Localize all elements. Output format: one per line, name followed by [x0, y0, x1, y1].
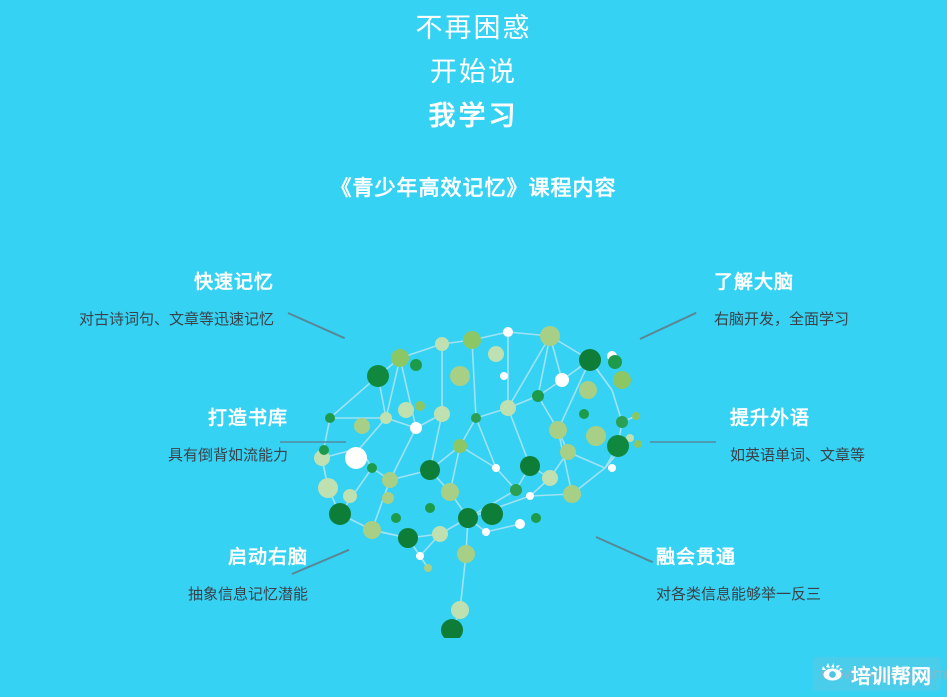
header-line-3: 我学习	[0, 94, 947, 138]
brain-network-svg	[300, 318, 660, 638]
feature-build-library: 打造书库 具有倒背如流能力	[0, 406, 292, 468]
feature-desc-integrate-knowledge: 对各类信息能够举一反三	[652, 583, 947, 607]
connector-line-improve-foreign-language	[650, 441, 716, 443]
feature-title-improve-foreign-language: 提升外语	[726, 406, 947, 432]
feature-desc-improve-foreign-language: 如英语单词、文章等	[726, 444, 947, 468]
feature-title-activate-right-brain: 启动右脑	[12, 545, 312, 571]
site-watermark: www.pxbang.com 培训帮网	[813, 657, 941, 691]
poster-canvas: 不再困惑 开始说 我学习 《青少年高效记忆》课程内容	[0, 0, 947, 697]
feature-title-fast-memory: 快速记忆	[0, 270, 278, 296]
feature-desc-build-library: 具有倒背如流能力	[0, 444, 292, 468]
feature-improve-foreign-language: 提升外语 如英语单词、文章等	[726, 406, 947, 468]
feature-understand-brain: 了解大脑 右脑开发，全面学习	[710, 270, 947, 332]
feature-title-integrate-knowledge: 融会贯通	[652, 545, 947, 571]
feature-desc-understand-brain: 右脑开发，全面学习	[710, 308, 947, 332]
feature-title-build-library: 打造书库	[0, 406, 292, 432]
header-line-1: 不再困惑	[0, 6, 947, 50]
feature-activate-right-brain: 启动右脑 抽象信息记忆潜能	[12, 545, 312, 607]
feature-title-understand-brain: 了解大脑	[710, 270, 947, 296]
watermark-site-name: 培训帮网	[851, 660, 931, 689]
header-line-2: 开始说	[0, 50, 947, 94]
feature-fast-memory: 快速记忆 对古诗词句、文章等迅速记忆	[0, 270, 278, 332]
course-subtitle: 《青少年高效记忆》课程内容	[0, 172, 947, 202]
feature-integrate-knowledge: 融会贯通 对各类信息能够举一反三	[652, 545, 947, 607]
feature-desc-activate-right-brain: 抽象信息记忆潜能	[12, 583, 312, 607]
brain-network-illustration	[300, 318, 660, 638]
feature-desc-fast-memory: 对古诗词句、文章等迅速记忆	[0, 308, 278, 332]
header-block: 不再困惑 开始说 我学习	[0, 0, 947, 138]
sun-eye-logo-icon	[821, 662, 845, 687]
